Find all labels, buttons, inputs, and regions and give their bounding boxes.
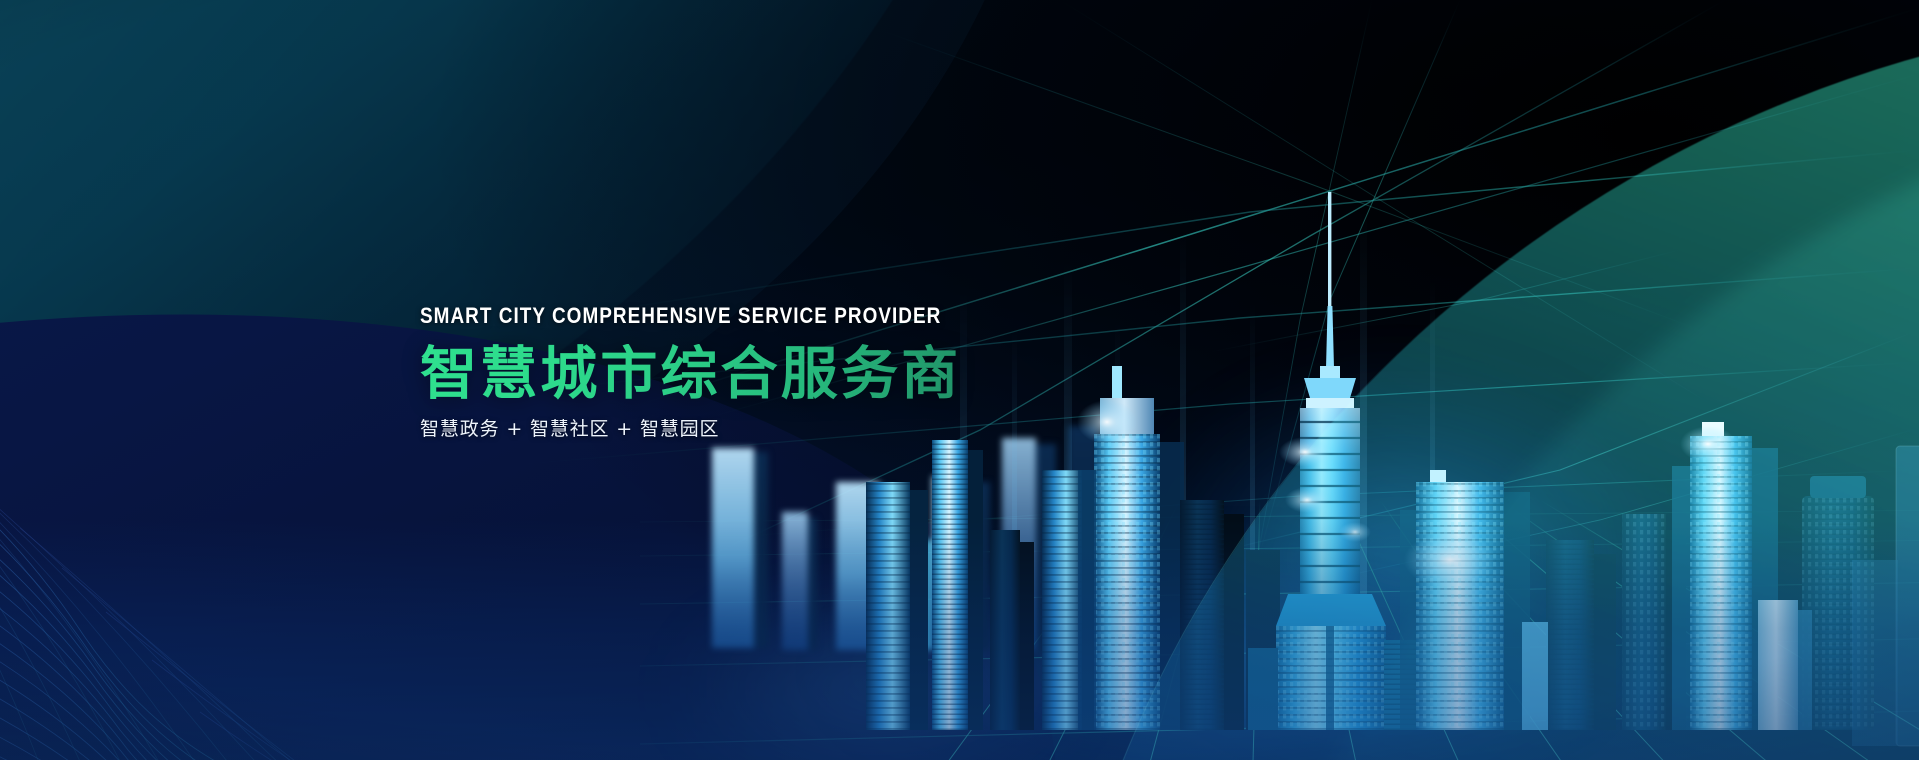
page-title: 智慧城市综合服务商 [420, 344, 1320, 404]
smart-city-banner: SMART CITY COMPREHENSIVE SERVICE PROVIDE… [0, 0, 1919, 760]
floor-haze [0, 520, 1919, 760]
hero-copy: SMART CITY COMPREHENSIVE SERVICE PROVIDE… [420, 305, 1320, 439]
subtitle-text: 智慧政务 + 智慧社区 + 智慧园区 [420, 420, 1320, 439]
eyebrow-text: SMART CITY COMPREHENSIVE SERVICE PROVIDE… [420, 305, 1194, 327]
